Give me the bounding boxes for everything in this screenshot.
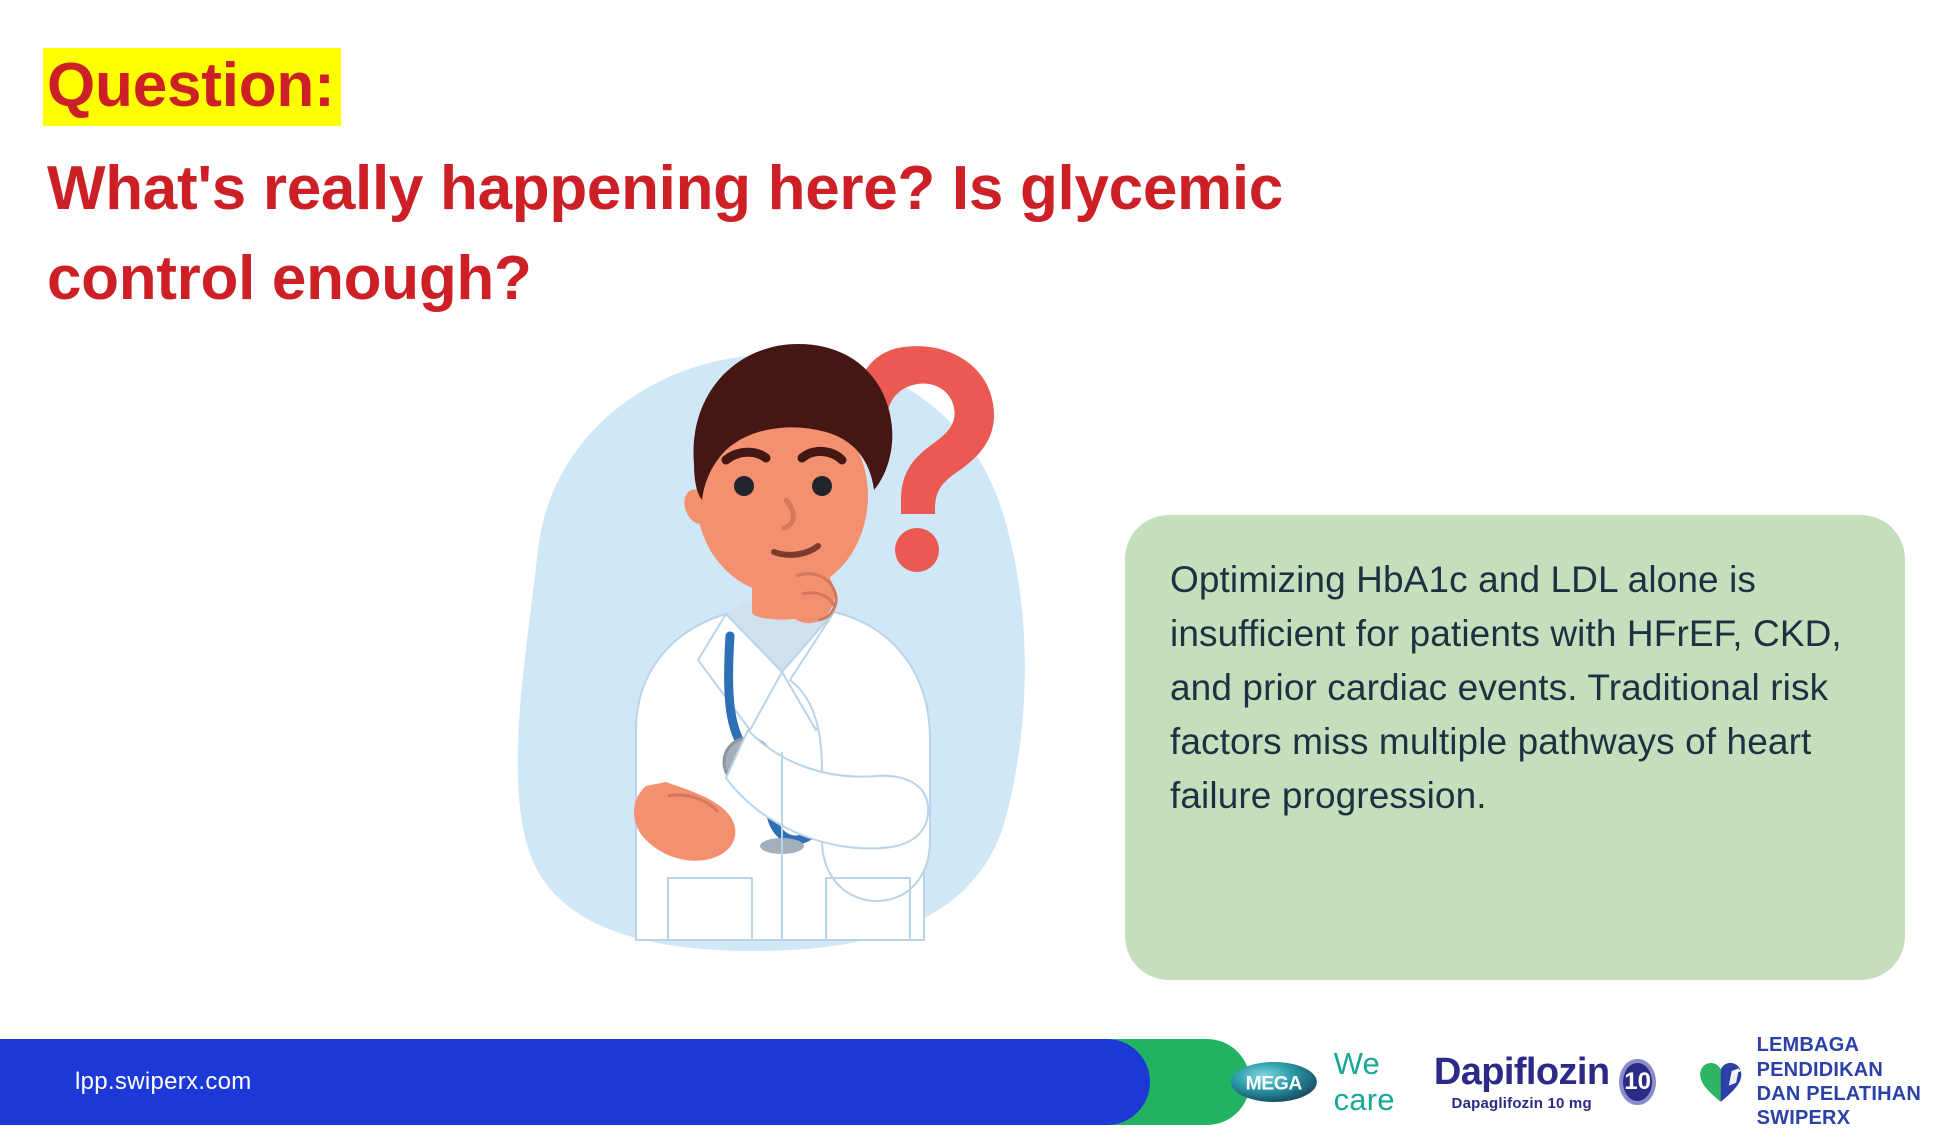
dapiflozin-wordmark-text: Dapiflozin xyxy=(1434,1053,1610,1091)
callout-box: Optimizing HbA1c and LDL alone is insuff… xyxy=(1125,515,1905,980)
heart-book-icon xyxy=(1698,1053,1745,1111)
page-title: What's really happening here? Is glycemi… xyxy=(47,144,1467,324)
dapiflozin-logo: Dapiflozin Dapaglifozin 10 mg xyxy=(1434,1053,1610,1112)
lpp-line-2: DAN PELATIHAN SWIPERX xyxy=(1757,1082,1950,1131)
lpp-logo: LEMBAGA PENDIDIKAN DAN PELATIHAN SWIPERX xyxy=(1698,1033,1950,1131)
mega-logo: MEGA xyxy=(1230,1054,1318,1110)
slide-canvas: Question: What's really happening here? … xyxy=(0,0,1950,1125)
lpp-line-1: LEMBAGA PENDIDIKAN xyxy=(1757,1033,1950,1082)
we-care-tagline: We care xyxy=(1334,1046,1420,1118)
svg-text:MEGA: MEGA xyxy=(1246,1073,1303,1094)
dose-badge: 10 xyxy=(1619,1059,1655,1105)
dapiflozin-wordmark: Dapiflozin xyxy=(1434,1053,1610,1091)
logo-row: MEGA We care Dapiflozin Dapaglifozin 10 … xyxy=(1230,1039,1950,1125)
heading-block: Question: What's really happening here? … xyxy=(43,48,1843,324)
lpp-logo-text: LEMBAGA PENDIDIKAN DAN PELATIHAN SWIPERX xyxy=(1757,1033,1950,1131)
callout-text: Optimizing HbA1c and LDL alone is insuff… xyxy=(1170,553,1861,823)
thinking-doctor-illustration xyxy=(430,300,1070,990)
footer-url[interactable]: lpp.swiperx.com xyxy=(75,1039,252,1125)
question-label-line: Question: xyxy=(43,48,1843,126)
dapiflozin-subtitle: Dapaglifozin 10 mg xyxy=(1452,1095,1592,1112)
question-label: Question: xyxy=(43,48,341,126)
